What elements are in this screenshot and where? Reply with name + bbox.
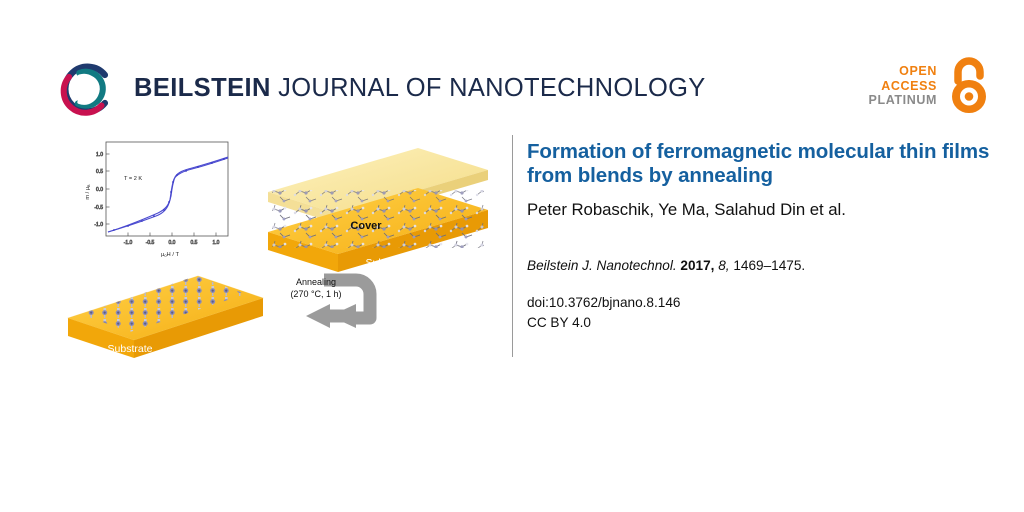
svg-text:0.5: 0.5 <box>191 240 198 246</box>
open-access-badge[interactable]: OPEN ACCESS PLATINUM <box>869 57 994 115</box>
citation-pages: 1469–1475. <box>733 258 805 273</box>
plot-xlabel: µ0H / T <box>161 252 179 258</box>
journal-header: BEILSTEIN JOURNAL OF NANOTECHNOLOGY OPEN… <box>0 0 1024 130</box>
article-teaser-card: BEILSTEIN JOURNAL OF NANOTECHNOLOGY OPEN… <box>0 0 1024 512</box>
svg-text:1.0: 1.0 <box>96 152 103 158</box>
substrate-label-bottom: Substrate <box>108 343 153 355</box>
open-access-line3: PLATINUM <box>869 93 937 108</box>
plot-annotation: T = 2 K <box>124 176 142 182</box>
svg-text:-0.5: -0.5 <box>94 205 103 211</box>
brand-rest: JOURNAL OF NANOTECHNOLOGY <box>271 74 706 102</box>
article-authors: Peter Robaschik, Ye Ma, Salahud Din et a… <box>527 200 997 221</box>
graphical-abstract-figure[interactable]: 1.0 0.5 0.0 -0.5 -1.0 -1.0 -0.5 0.0 0.5 … <box>58 132 498 368</box>
svg-text:-1.0: -1.0 <box>94 222 103 228</box>
citation-journal: Beilstein J. Nanotechnol. <box>527 258 677 273</box>
cover-label: Cover <box>350 220 382 232</box>
annealing-arrow: Annealing (270 °C, 1 h) <box>290 277 370 328</box>
vertical-divider <box>512 135 513 357</box>
graphical-abstract-svg: 1.0 0.5 0.0 -0.5 -1.0 -1.0 -0.5 0.0 0.5 … <box>58 132 498 368</box>
citation-year: 2017, <box>680 258 714 273</box>
citation-volume: 8, <box>718 258 729 273</box>
article-citation: Beilstein J. Nanotechnol. 2017, 8, 1469–… <box>527 257 997 275</box>
svg-text:-1.0: -1.0 <box>124 240 133 246</box>
beilstein-swirl-logo-icon <box>56 58 118 120</box>
journal-logo[interactable]: BEILSTEIN JOURNAL OF NANOTECHNOLOGY <box>56 58 706 120</box>
svg-text:0.0: 0.0 <box>169 240 176 246</box>
article-doi[interactable]: doi:10.3762/bjnano.8.146 <box>527 293 997 313</box>
hysteresis-plot: 1.0 0.5 0.0 -0.5 -1.0 -1.0 -0.5 0.0 0.5 … <box>82 138 234 258</box>
article-license[interactable]: CC BY 4.0 <box>527 313 997 333</box>
disordered-molecules <box>272 190 484 248</box>
brand-bold: BEILSTEIN <box>134 74 271 102</box>
substrate-label-top: Substrate <box>366 257 411 269</box>
svg-text:0.5: 0.5 <box>96 169 103 175</box>
ordered-film-after-annealing: Substrate <box>68 276 263 358</box>
article-info-panel: Formation of ferromagnetic molecular thi… <box>527 140 997 332</box>
open-access-line2: ACCESS <box>881 79 937 94</box>
open-access-line1: OPEN <box>899 64 937 79</box>
annealing-label-line1: Annealing <box>296 277 336 287</box>
journal-title-wordmark: BEILSTEIN JOURNAL OF NANOTECHNOLOGY <box>134 76 706 102</box>
svg-text:1.0: 1.0 <box>213 240 220 246</box>
svg-text:0.0: 0.0 <box>96 187 103 193</box>
blend-scheme-before-annealing: Cover Substrate <box>268 148 488 272</box>
plot-ylabel: m / µB <box>85 184 91 200</box>
annealing-label-line2: (270 °C, 1 h) <box>290 289 341 299</box>
open-lock-icon <box>944 57 994 115</box>
article-title[interactable]: Formation of ferromagnetic molecular thi… <box>527 140 997 188</box>
svg-text:-0.5: -0.5 <box>146 240 155 246</box>
open-access-words: OPEN ACCESS PLATINUM <box>869 64 937 108</box>
article-meta: doi:10.3762/bjnano.8.146 CC BY 4.0 <box>527 293 997 332</box>
